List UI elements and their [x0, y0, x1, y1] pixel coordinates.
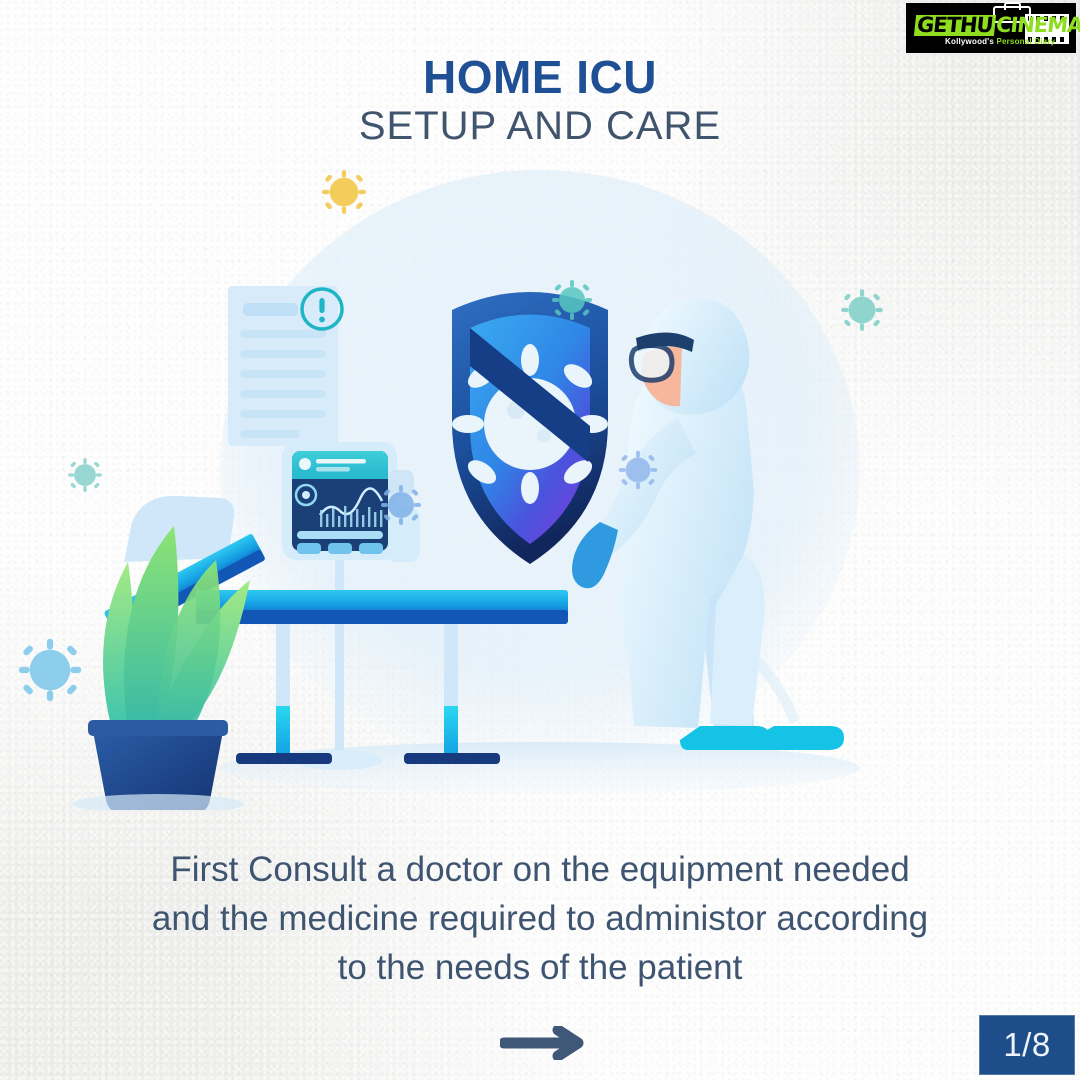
floating-virus-lightblue	[19, 639, 81, 701]
page-title: HOME ICU	[0, 50, 1080, 104]
floating-virus-small-teal	[68, 458, 102, 492]
arrow-right-icon[interactable]	[500, 1026, 588, 1060]
floating-virus-green-right	[841, 289, 883, 331]
page-indicator-text: 1/8	[1003, 1026, 1050, 1064]
watermark-tagline: Kollywood's Personal Diary	[945, 37, 1055, 46]
watermark-tagline-prefix: Kollywood's	[945, 37, 994, 46]
poster-canvas: HOME ICU SETUP AND CARE First Consult a …	[0, 0, 1080, 1080]
watermark-logo: GETHU CINEMA Kollywood's Personal Diary	[906, 3, 1076, 53]
floating-virus-yellow	[322, 170, 366, 214]
caption-line-3: to the needs of the patient	[60, 943, 1020, 992]
page-indicator-badge: 1/8	[979, 1015, 1075, 1075]
caption-line-2: and the medicine required to administor …	[60, 894, 1020, 943]
floating-virus-blue	[381, 485, 421, 525]
page-subtitle: SETUP AND CARE	[0, 104, 1080, 149]
floating-virus-periwinkle	[619, 451, 657, 489]
caption-block: First Consult a doctor on the equipment …	[60, 845, 1020, 992]
watermark-brand-first: GETHU	[914, 15, 996, 36]
caption-line-1: First Consult a doctor on the equipment …	[60, 845, 1020, 894]
floating-virus-teal	[552, 280, 592, 320]
illustration-hero	[0, 170, 1080, 810]
watermark-brand-second: CINEMA	[994, 15, 1080, 36]
watermark-tagline-suffix: Personal Diary	[996, 37, 1055, 46]
